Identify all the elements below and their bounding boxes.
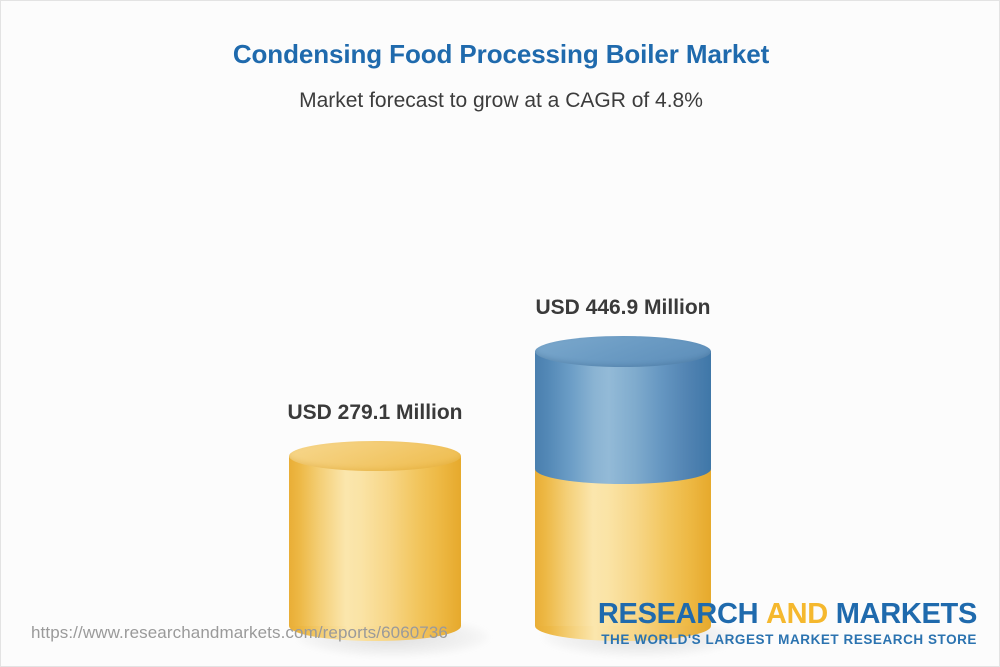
brand-logo[interactable]: RESEARCH AND MARKETS THE WORLD'S LARGEST… (598, 599, 977, 647)
brand-word-markets: MARKETS (836, 598, 977, 630)
plot-area: USD 279.1 Million 2024 USD 446.9 Million… (1, 131, 1000, 571)
source-url[interactable]: https://www.researchandmarkets.com/repor… (31, 623, 448, 643)
bar-value-label-2024: USD 279.1 Million (275, 401, 475, 425)
bar-2024[interactable]: USD 279.1 Million 2024 (289, 311, 461, 659)
chart-canvas: Condensing Food Processing Boiler Market… (0, 0, 1000, 667)
bar-segment-growth (535, 351, 711, 469)
brand-space-2 (828, 598, 836, 630)
brand-tagline: THE WORLD'S LARGEST MARKET RESEARCH STOR… (598, 632, 977, 647)
brand-wordmark: RESEARCH AND MARKETS (598, 599, 977, 629)
bar-value-label-2034: USD 446.9 Million (521, 296, 725, 320)
brand-word-research: RESEARCH (598, 598, 758, 630)
chart-subtitle: Market forecast to grow at a CAGR of 4.8… (1, 89, 1000, 113)
bar-2034[interactable]: USD 446.9 Million 2034 (535, 191, 711, 659)
page-title: Condensing Food Processing Boiler Market (1, 39, 1000, 70)
brand-space-1 (758, 598, 766, 630)
bar-top-cap (535, 336, 711, 367)
bar-segment-divider (535, 454, 711, 484)
brand-word-and: AND (766, 598, 828, 630)
bar-top-cap (289, 441, 461, 471)
bar-body (289, 456, 461, 626)
